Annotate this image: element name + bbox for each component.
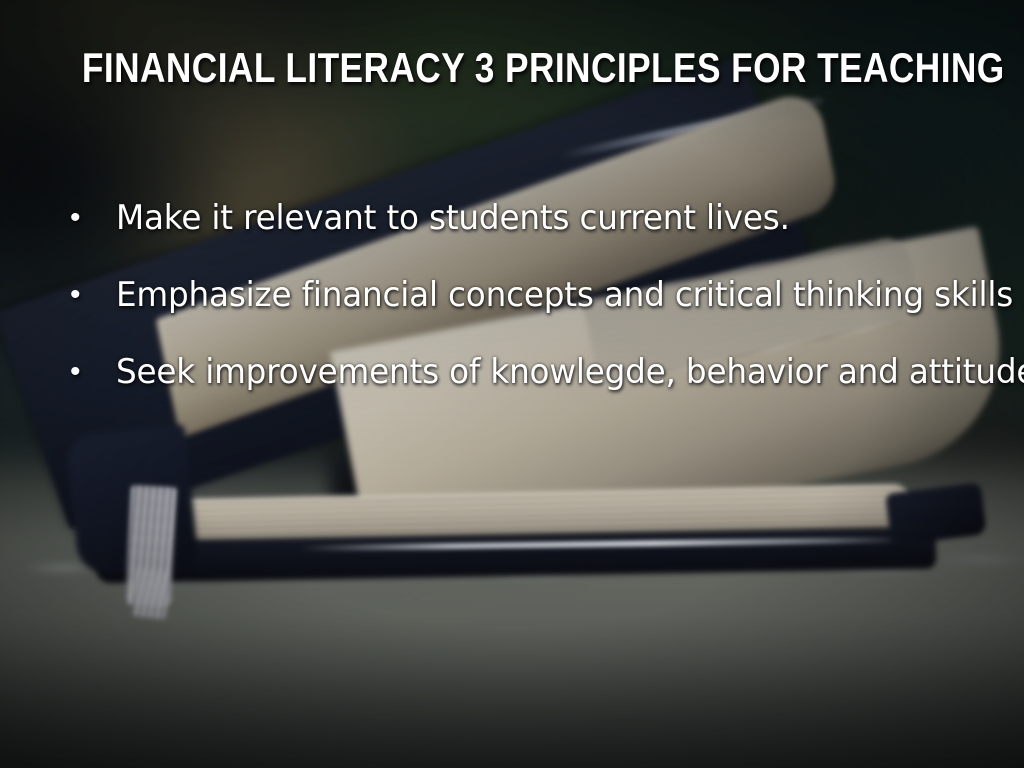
slide-title: FINANCIAL LITERACY 3 PRINCIPLES FOR TEAC…	[82, 44, 942, 92]
bullet-item: • Emphasize financial concepts and criti…	[66, 273, 994, 350]
bullet-marker-icon: •	[66, 350, 116, 394]
bullet-text: Make it relevant to students current liv…	[116, 196, 790, 240]
bullet-marker-icon: •	[66, 196, 116, 240]
slide: FINANCIAL LITERACY 3 PRINCIPLES FOR TEAC…	[0, 0, 1024, 768]
slide-content: FINANCIAL LITERACY 3 PRINCIPLES FOR TEAC…	[0, 0, 1024, 768]
bullet-list: • Make it relevant to students current l…	[66, 196, 994, 427]
bullet-text: Emphasize financial concepts and critica…	[116, 273, 1013, 317]
bullet-item: • Seek improvements of knowlegde, behavi…	[66, 350, 994, 427]
bullet-text: Seek improvements of knowlegde, behavior…	[116, 350, 1024, 394]
bullet-item: • Make it relevant to students current l…	[66, 196, 994, 273]
bullet-marker-icon: •	[66, 273, 116, 317]
